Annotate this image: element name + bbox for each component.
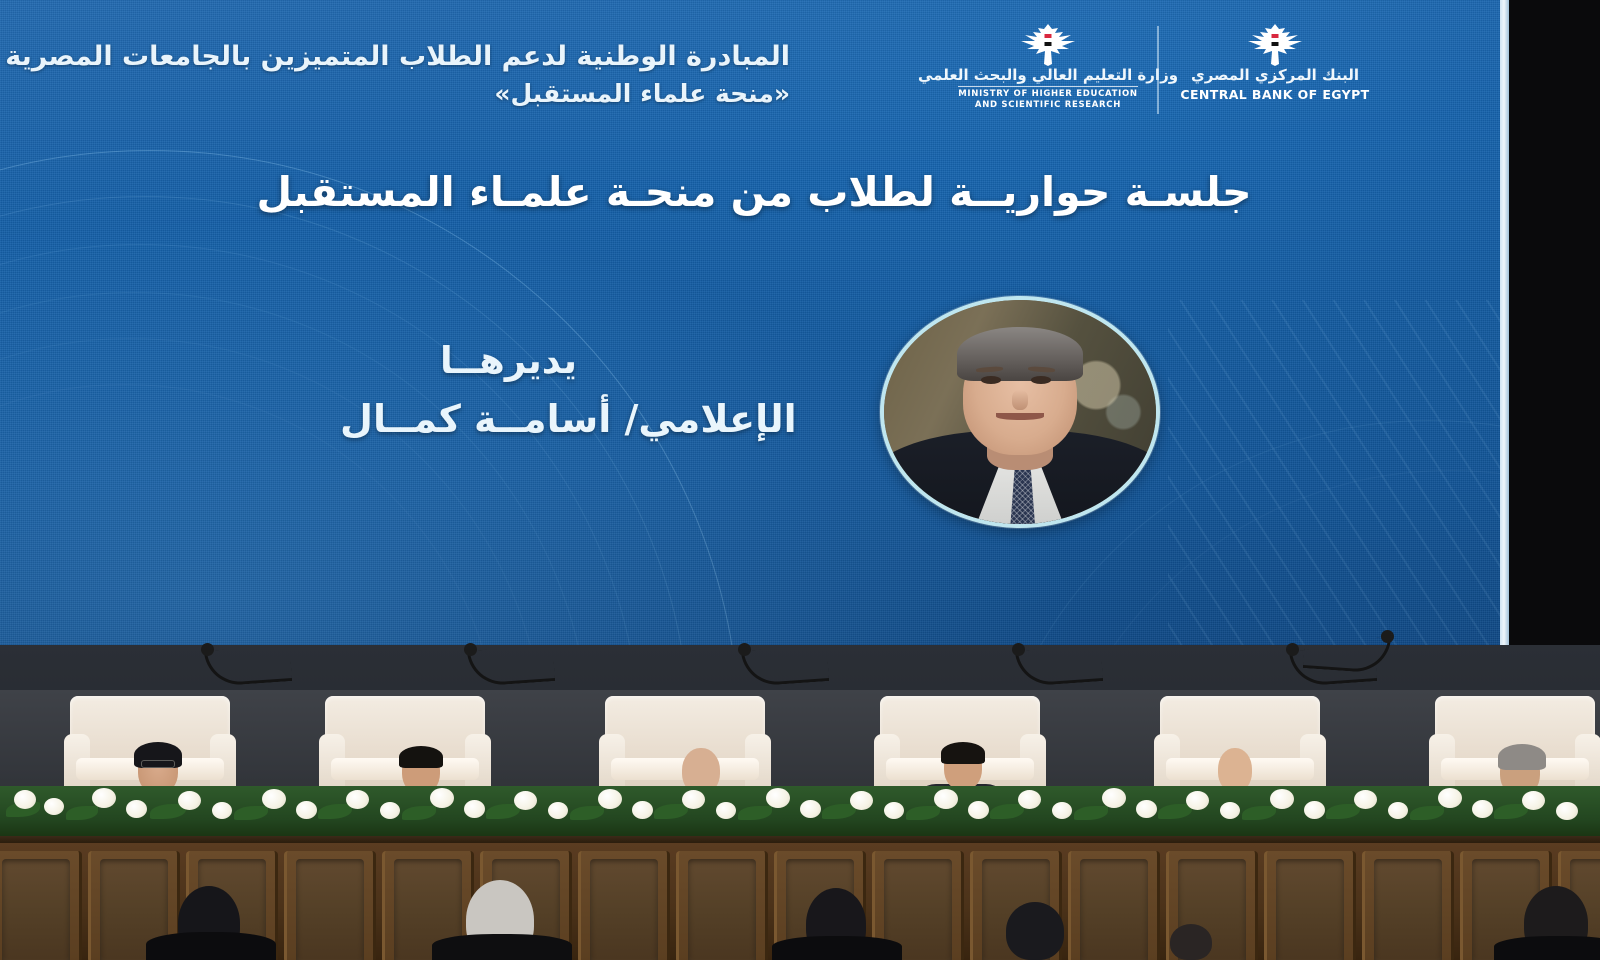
audience-shoulders xyxy=(146,932,276,960)
portrait-eye-right xyxy=(1031,376,1051,384)
audience-shoulders xyxy=(1494,936,1600,960)
moderator-credit: يديرهــا الإعلامي/ أسامــة كمــال xyxy=(340,336,860,445)
conference-stage-photo: المبادرة الوطنية لدعم الطلاب المتميزين ب… xyxy=(0,0,1600,960)
cbe-logo-english: CENTRAL BANK OF EGYPT xyxy=(1180,86,1369,103)
eagle-of-saladin-icon xyxy=(1017,22,1079,66)
central-bank-of-egypt-logo: البنك المركزي المصري CENTRAL BANK OF EGY… xyxy=(1175,22,1375,103)
screen-right-edge xyxy=(1500,0,1509,700)
hair-grey xyxy=(1498,744,1546,770)
diagonal-line-graphic xyxy=(1168,300,1508,700)
audience-head xyxy=(1170,924,1212,960)
initiative-header-line2: «منحة علماء المستقبل» xyxy=(0,78,790,110)
portrait-nose xyxy=(1012,390,1028,410)
moderator-portrait xyxy=(880,296,1160,528)
ministry-logo-english-line2: AND SCIENTIFIC RESEARCH xyxy=(958,100,1138,111)
ministry-logo-arabic: وزارة التعليم العالي والبحث العلمي xyxy=(918,68,1178,83)
globe-arc-graphic xyxy=(0,196,690,700)
chair-row xyxy=(0,648,1600,808)
session-main-title: جلسـة حواريــة لطلاب من منحـة علمـاء الم… xyxy=(0,168,1508,216)
sponsor-logos: وزارة التعليم العالي والبحث العلمي MINIS… xyxy=(955,22,1375,132)
initiative-header-line1: المبادرة الوطنية لدعم الطلاب المتميزين ب… xyxy=(0,40,790,75)
portrait-oval-frame xyxy=(880,296,1160,528)
audience-shoulders xyxy=(772,936,902,960)
moderator-name: الإعلامي/ أسامــة كمــال xyxy=(340,394,860,445)
hair xyxy=(399,746,443,768)
portrait-hair xyxy=(957,327,1082,381)
portrait-eye-left xyxy=(981,376,1001,384)
hair xyxy=(941,742,985,764)
eagle-of-saladin-icon xyxy=(1244,22,1306,66)
logo-divider xyxy=(1157,26,1159,114)
audience-shoulders xyxy=(432,934,572,960)
audience-head xyxy=(1006,902,1064,960)
audience-row xyxy=(0,880,1600,960)
ministry-of-higher-education-logo: وزارة التعليم العالي والبحث العلمي MINIS… xyxy=(955,22,1141,110)
ministry-logo-english-line1: MINISTRY OF HIGHER EDUCATION xyxy=(958,89,1138,100)
ministry-logo-english: MINISTRY OF HIGHER EDUCATION AND SCIENTI… xyxy=(958,86,1138,110)
initiative-header: المبادرة الوطنية لدعم الطلاب المتميزين ب… xyxy=(0,40,790,110)
eyeglasses-icon xyxy=(141,760,175,768)
moderator-label: يديرهــا xyxy=(340,336,860,386)
cbe-logo-arabic: البنك المركزي المصري xyxy=(1191,68,1359,83)
stage-front-flower-bed xyxy=(0,786,1600,842)
globe-arc-graphic xyxy=(0,244,640,700)
